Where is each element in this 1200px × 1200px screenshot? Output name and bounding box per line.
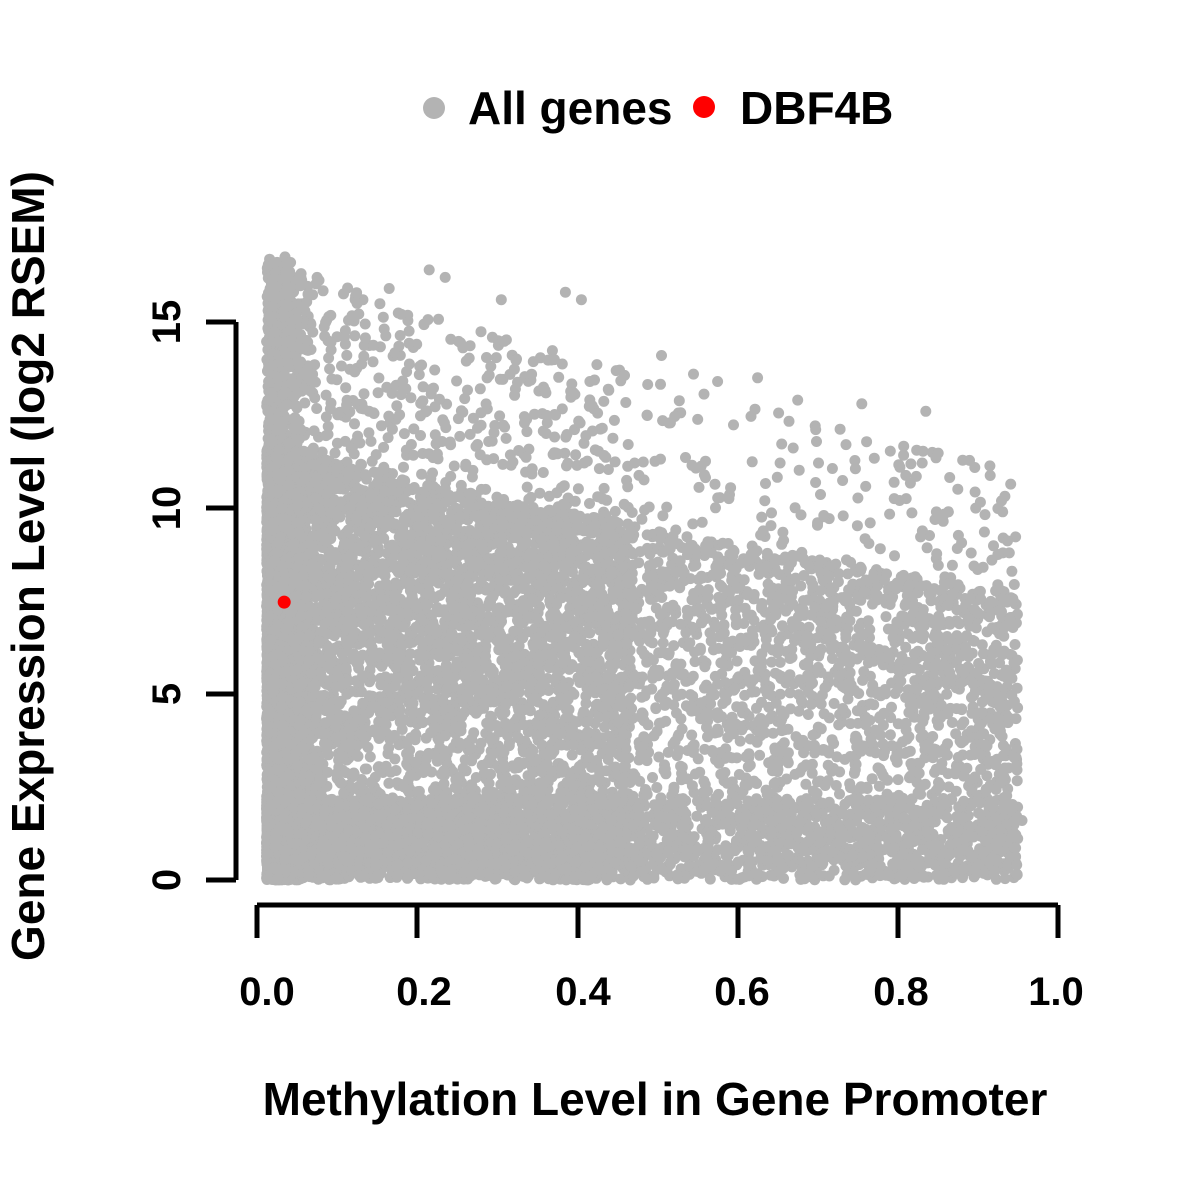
- x-tick-label-0-0: 0.0: [239, 970, 295, 1014]
- legend-dbf4b-label: DBF4B: [740, 82, 893, 134]
- scatter-plot-figure: 0 5 10 15 0.0 0.2 0.4 0.6 0.8 1.0 Methyl…: [0, 0, 1200, 1200]
- y-tick-label-15: 15: [145, 300, 189, 345]
- y-tick-label-5: 5: [145, 683, 189, 705]
- legend-all-genes-label: All genes: [468, 82, 673, 134]
- x-tick-label-0-6: 0.6: [714, 970, 770, 1014]
- legend: All genes DBF4B: [423, 82, 893, 134]
- plot-canvas: 0 5 10 15 0.0 0.2 0.4 0.6 0.8 1.0 Methyl…: [0, 0, 1200, 1200]
- x-tick-label-1-0: 1.0: [1028, 970, 1084, 1014]
- x-tick-label-0-4: 0.4: [555, 970, 611, 1014]
- dbf4b-point: [278, 596, 291, 609]
- x-tick-label-0-2: 0.2: [396, 970, 452, 1014]
- x-axis-title: Methylation Level in Gene Promoter: [263, 1073, 1048, 1125]
- series-dbf4b-points: [278, 596, 291, 609]
- x-tick-label-0-8: 0.8: [873, 970, 929, 1014]
- y-tick-label-10: 10: [145, 486, 189, 531]
- y-axis-title: Gene Expression Level (log2 RSEM): [2, 171, 54, 961]
- y-tick-label-0: 0: [145, 869, 189, 891]
- legend-dbf4b-marker-icon: [693, 96, 715, 118]
- legend-all-genes-marker-icon: [423, 97, 445, 119]
